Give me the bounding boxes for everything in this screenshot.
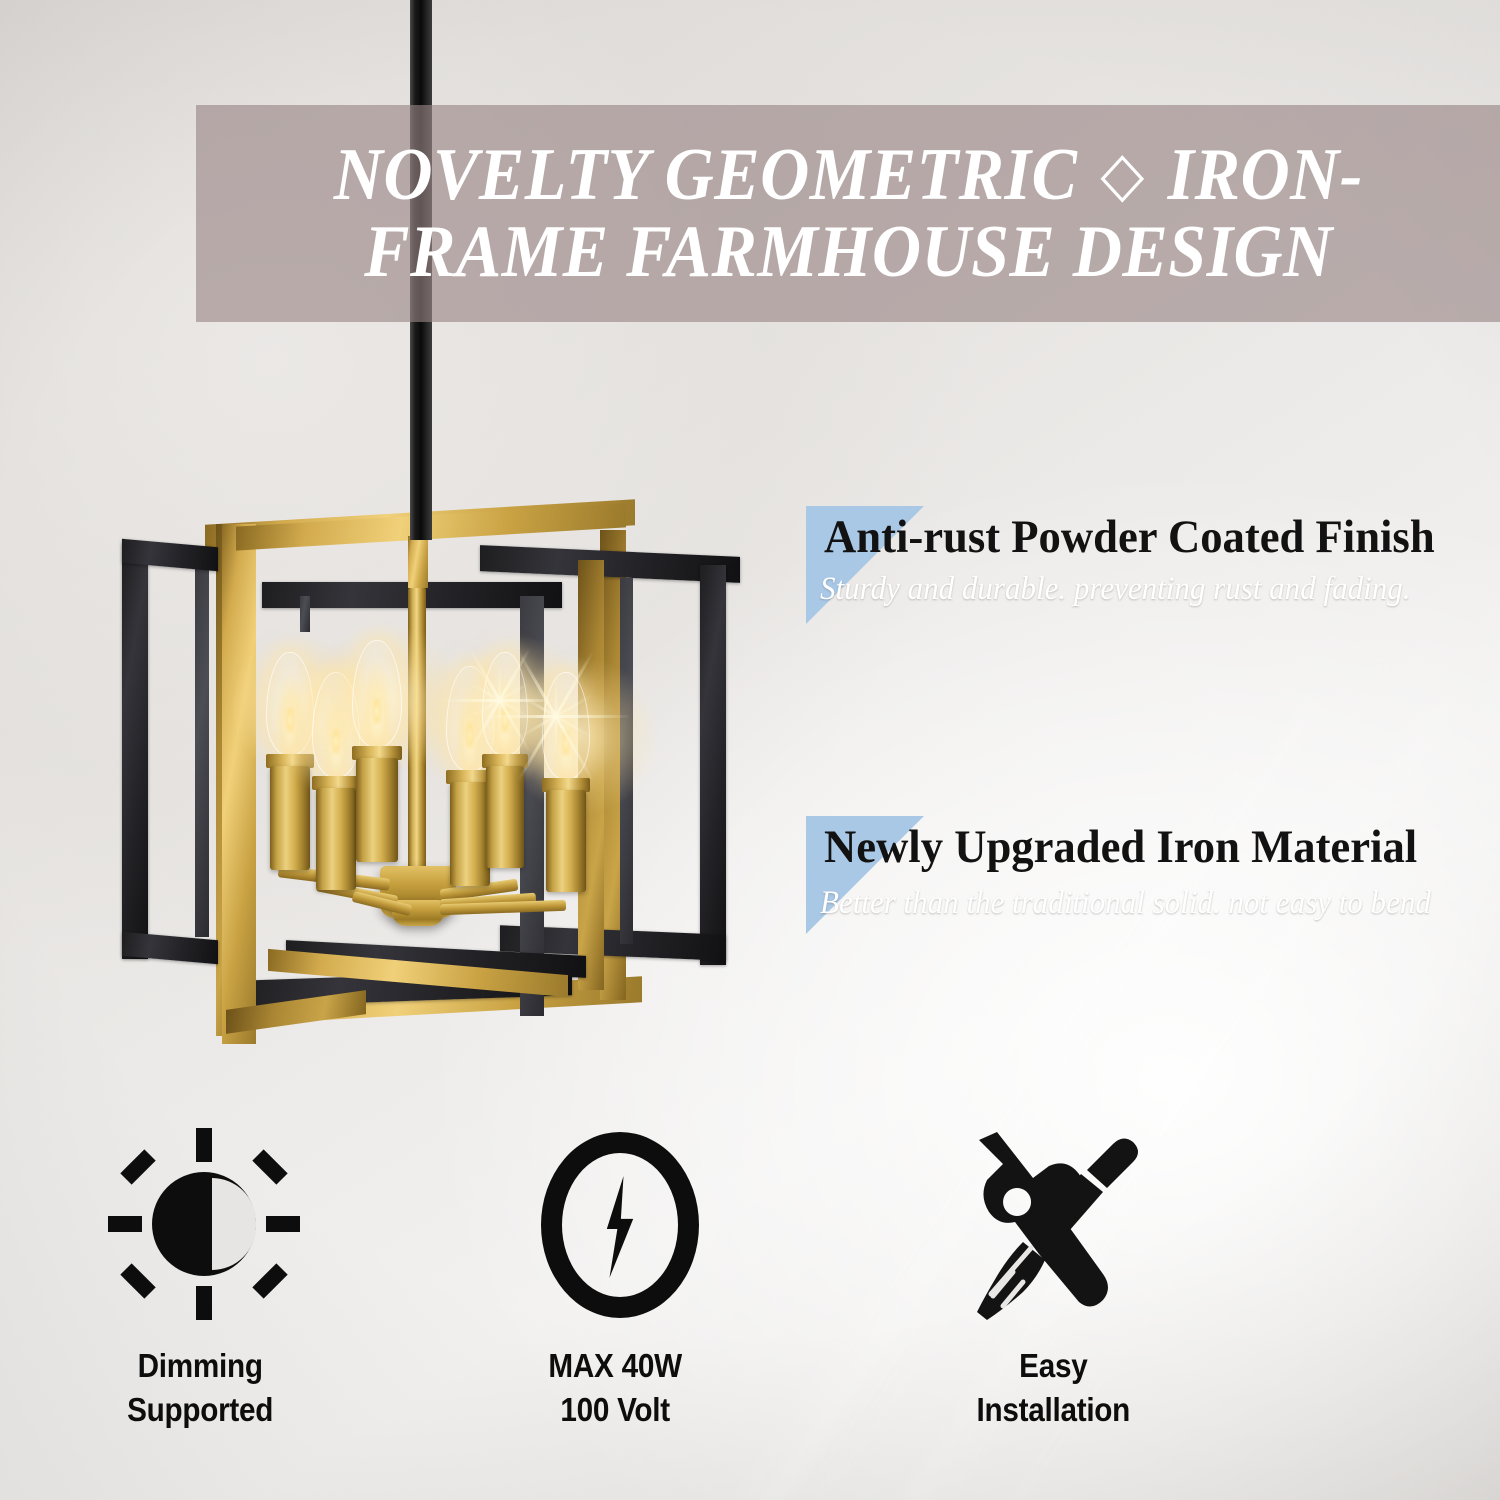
socket-1 [270,766,310,870]
hero-title-banner: NOVELTY GEOMETRIC ◇ IRON- FRAME FARMHOUS… [196,105,1500,322]
spec-label-line-1: Easy [976,1344,1130,1388]
chandelier-rod-upper [410,0,432,105]
frame-bar-black-left-inner-vert [195,565,209,937]
lightning-bolt-icon [515,1120,715,1330]
diamond-icon: ◇ [1094,141,1149,209]
dimming-ray-s [196,1286,212,1320]
dimming-ray-w [108,1216,142,1232]
spec-item-installation: Easy Installation [843,1120,1263,1500]
dimming-ray-n [196,1128,212,1162]
dimming-ray-se [252,1263,287,1298]
spec-item-dimming: Dimming Supported [0,1120,410,1500]
feature-subtitle: Better than the traditional solid. not e… [820,887,1469,920]
chandelier-center-post [408,588,426,880]
hero-title-text-a: NOVELTY GEOMETRIC [333,134,1077,216]
feature-title: Anti-rust Powder Coated Finish [824,514,1480,561]
spec-label-line-2: 100 Volt [548,1388,681,1432]
spec-label-line-1: Dimming [127,1344,273,1388]
product-marketing-image: NOVELTY GEOMETRIC ◇ IRON- FRAME FARMHOUS… [0,0,1500,1500]
spec-item-wattage: MAX 40W 100 Volt [405,1120,825,1500]
spec-label-installation: Easy Installation [976,1344,1130,1431]
frame-bar-black-right-outer-vert [700,565,726,965]
frame-bar-black-center-left-vert [300,596,310,632]
socket-6 [546,790,586,892]
dimming-ray-ne [252,1149,287,1184]
frame-bar-black-right-inner-vert [620,578,633,944]
dimming-ray-e [266,1216,300,1232]
feature-subtitle: Sturdy and durable. preventing rust and … [820,573,1469,606]
hero-title-text-b: IRON- [1167,134,1362,216]
spec-label-line-2: Supported [127,1388,273,1432]
dimming-core-circle [152,1172,256,1276]
spec-label-dimming: Dimming Supported [127,1344,273,1431]
frame-bar-black-left-outer-vert [122,543,148,959]
spec-icon-row: Dimming Supported MAX 40W 100 Volt [0,1120,1500,1500]
socket-5 [486,766,524,868]
feature-callout-iron-material: Newly Upgraded Iron Material Better than… [806,816,1496,928]
socket-2 [316,788,356,890]
hero-title-line-2: FRAME FARMHOUSE DESIGN [364,214,1333,291]
spec-label-wattage: MAX 40W 100 Volt [548,1344,681,1431]
socket-3 [356,758,398,862]
socket-4 [450,782,490,886]
feature-title: Newly Upgraded Iron Material [824,824,1480,871]
dimming-ray-nw [120,1149,155,1184]
spec-label-line-1: MAX 40W [548,1344,681,1388]
tools-svg [957,1126,1153,1326]
frame-bar-gold-right-vert [578,560,604,990]
hero-title-line-1: NOVELTY GEOMETRIC ◇ IRON- [333,137,1362,214]
tools-wrench-screwdriver-icon [953,1120,1153,1330]
dimming-brightness-icon [100,1120,300,1330]
dimming-ray-sw [120,1263,155,1298]
frame-bar-gold-front-left-vert [222,524,256,1044]
spec-label-line-2: Installation [976,1388,1130,1432]
frame-bar-gold-top-riser [408,536,428,588]
feature-callout-anti-rust: Anti-rust Powder Coated Finish Sturdy an… [806,506,1496,618]
